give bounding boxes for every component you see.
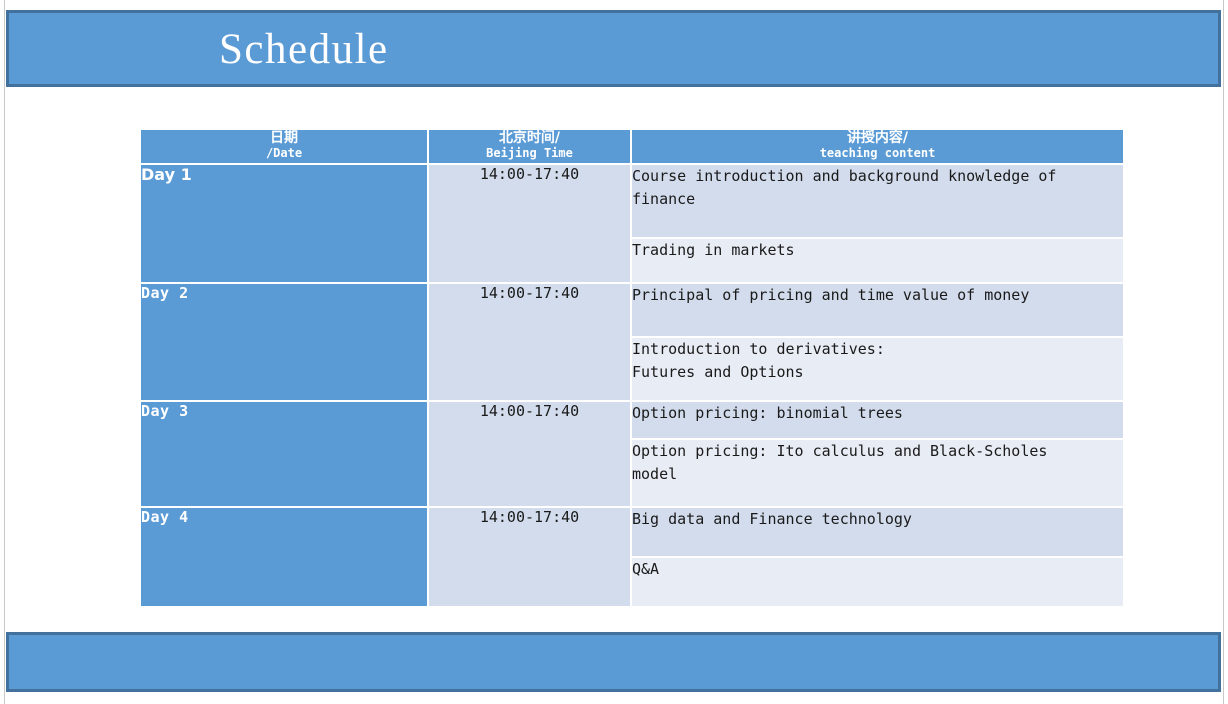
header-banner (6, 10, 1221, 87)
time-cell-day-1: 14:00-17:40 (429, 165, 630, 282)
column-header-content-en: teaching content (632, 146, 1123, 160)
date-cell-day-2: Day 2 (141, 284, 427, 400)
time-cell-day-3: 14:00-17:40 (429, 402, 630, 506)
footer-banner (6, 632, 1221, 692)
table-row: Day 2 14:00-17:40 Principal of pricing a… (141, 284, 1123, 336)
column-header-content: 讲授内容/ teaching content (632, 130, 1123, 163)
column-header-time-en: Beijing Time (429, 146, 630, 160)
topic-cell: Q&A (632, 558, 1123, 606)
column-header-date-cn: 日期 (141, 130, 427, 146)
topic-cell: Course introduction and background knowl… (632, 165, 1123, 237)
column-header-time: 北京时间/ Beijing Time (429, 130, 630, 163)
column-header-date-en: /Date (141, 146, 427, 160)
date-label: Day 4 (141, 508, 189, 526)
column-header-time-cn: 北京时间/ (429, 130, 630, 146)
date-label: Day 3 (141, 402, 189, 420)
topic-cell: Introduction to derivatives: Futures and… (632, 338, 1123, 400)
table-row: Day 4 14:00-17:40 Big data and Finance t… (141, 508, 1123, 556)
topic-cell: Principal of pricing and time value of m… (632, 284, 1123, 336)
date-cell-day-3: Day 3 (141, 402, 427, 506)
column-header-content-cn: 讲授内容/ (632, 130, 1123, 146)
slide-canvas: Schedule 日期 /Date 北京时间/ Beijing Time 讲授内… (0, 0, 1228, 704)
time-label: 14:00-17:40 (480, 284, 579, 302)
table-header-row: 日期 /Date 北京时间/ Beijing Time 讲授内容/ teachi… (141, 130, 1123, 163)
time-label: 14:00-17:40 (480, 165, 579, 183)
topic-cell: Trading in markets (632, 239, 1123, 282)
time-cell-day-4: 14:00-17:40 (429, 508, 630, 606)
date-label: Day 1 (141, 165, 192, 184)
date-cell-day-4: Day 4 (141, 508, 427, 606)
topic-cell: Big data and Finance technology (632, 508, 1123, 556)
page-title: Schedule (219, 26, 389, 74)
time-label: 14:00-17:40 (480, 402, 579, 420)
topic-cell: Option pricing: Ito calculus and Black-S… (632, 440, 1123, 506)
schedule-table: 日期 /Date 北京时间/ Beijing Time 讲授内容/ teachi… (139, 128, 1125, 608)
topic-cell: Option pricing: binomial trees (632, 402, 1123, 438)
table-row: Day 3 14:00-17:40 Option pricing: binomi… (141, 402, 1123, 438)
table-row: Day 1 14:00-17:40 Course introduction an… (141, 165, 1123, 237)
column-header-date: 日期 /Date (141, 130, 427, 163)
date-label: Day 2 (141, 284, 189, 302)
time-label: 14:00-17:40 (480, 508, 579, 526)
time-cell-day-2: 14:00-17:40 (429, 284, 630, 400)
date-cell-day-1: Day 1 (141, 165, 427, 282)
